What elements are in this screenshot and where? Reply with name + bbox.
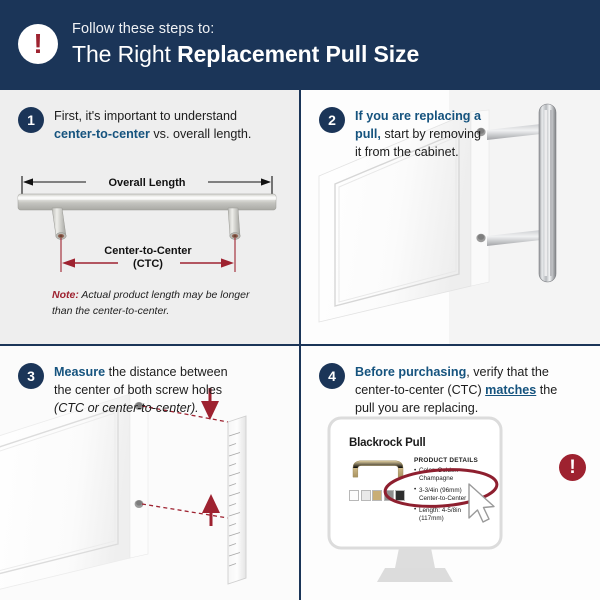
- pull-bar: [18, 194, 276, 210]
- swatch-1[interactable]: [349, 490, 359, 501]
- header-banner: ! Follow these steps to: The Right Repla…: [0, 0, 600, 88]
- note-label: Note:: [52, 289, 79, 301]
- screw-hole-bottom-inner: [478, 234, 484, 240]
- step-4-badge: 4: [319, 363, 345, 389]
- panel-step-4: Blackrock Pull: [301, 346, 600, 600]
- exclamation-glyph-small: !: [569, 458, 575, 477]
- step-1-badge: 1: [18, 107, 44, 133]
- step-2-badge: 2: [319, 107, 345, 133]
- panel-step-1: 1 First, it's important to understand ce…: [0, 90, 299, 344]
- step-2-text: If you are replacing a pull, start by re…: [355, 108, 485, 162]
- overall-arrow-left: [23, 178, 33, 185]
- step-3-text-bold: Measure: [54, 365, 105, 379]
- product-detail-length: Length: 4-5/8in (117mm): [414, 507, 483, 524]
- page-title: The Right Replacement Pull Size: [72, 41, 419, 67]
- screw-hole-bottom-3-inner: [136, 500, 142, 505]
- ctc-arrow-right: [221, 258, 234, 267]
- product-detail-color: Color: Golden Champagne: [414, 467, 483, 484]
- exclamation-glyph: !: [33, 30, 42, 58]
- product-details-heading: PRODUCT DETAILS: [414, 457, 483, 464]
- step-1-text-bold: center-to-center: [54, 127, 150, 141]
- panel-step-2: 2 If you are replacing a pull, start by …: [301, 90, 600, 344]
- ctc-label-line1: Center-to-Center: [104, 245, 192, 257]
- step-4-header: 4 Before purchasing, verify that the cen…: [319, 364, 588, 418]
- note-text: Note: Actual product length may be longe…: [52, 288, 262, 320]
- step-3-text: Measure the distance between the center …: [54, 364, 234, 418]
- header-text-group: Follow these steps to: The Right Replace…: [72, 21, 419, 68]
- step-1-header: 1 First, it's important to understand ce…: [18, 108, 287, 144]
- step-4-text-bold: Before purchasing: [355, 365, 466, 379]
- ctc-label-line2: (CTC): [133, 258, 163, 270]
- monitor-stand-base: [377, 568, 453, 582]
- swatch-4[interactable]: [384, 490, 394, 501]
- overall-length-label: Overall Length: [108, 177, 185, 189]
- steps-grid: 1 First, it's important to understand ce…: [0, 88, 600, 600]
- product-image-column: [349, 452, 411, 527]
- swatch-2[interactable]: [361, 490, 371, 501]
- alert-exclamation-icon: !: [18, 24, 58, 64]
- infographic-page: ! Follow these steps to: The Right Repla…: [0, 0, 600, 600]
- step-4-text: Before purchasing, verify that the cente…: [355, 364, 570, 418]
- note-body: Actual product length may be longer than…: [52, 289, 249, 317]
- swatch-3[interactable]: [372, 490, 382, 501]
- step-3-text-italic: (CTC or center-to-center).: [54, 401, 199, 415]
- step-1-text-b: vs. overall length.: [150, 127, 252, 141]
- pull-bar-highlight: [18, 197, 276, 200]
- step-2-header: 2 If you are replacing a pull, start by …: [319, 108, 588, 162]
- title-plain: The Right: [72, 41, 177, 67]
- header-kicker: Follow these steps to:: [72, 21, 419, 38]
- step-1-text: First, it's important to understand cent…: [54, 108, 274, 144]
- ruler: [228, 416, 246, 584]
- product-card-body: PRODUCT DETAILS Color: Golden Champagne …: [349, 452, 483, 527]
- step-3-badge: 3: [18, 363, 44, 389]
- product-detail-card[interactable]: Blackrock Pull: [339, 428, 491, 538]
- product-detail-ctc: 3-3/4in (96mm) Center-to-Center: [414, 487, 483, 504]
- panel-step-3: 3 Measure the distance between the cente…: [0, 346, 299, 600]
- monitor-stand-neck: [395, 548, 435, 568]
- product-title: Blackrock Pull: [349, 437, 483, 449]
- step-1-text-a: First, it's important to understand: [54, 109, 237, 123]
- swatch-5[interactable]: [395, 490, 405, 501]
- overall-arrow-right: [261, 178, 271, 185]
- pull-post-left: [52, 208, 66, 239]
- title-bold: Replacement Pull Size: [177, 41, 419, 67]
- step-4-text-underline[interactable]: matches: [485, 383, 536, 397]
- product-pull-image: [349, 456, 407, 481]
- color-swatch-list[interactable]: [349, 490, 411, 501]
- alert-exclamation-icon-small: !: [559, 454, 586, 481]
- pull-post-right: [228, 208, 240, 239]
- product-details-column: PRODUCT DETAILS Color: Golden Champagne …: [411, 452, 483, 527]
- ctc-arrow-left: [62, 258, 75, 267]
- bar-pull-dimension-diagram: Overall Length: [0, 168, 299, 278]
- step-3-header: 3 Measure the distance between the cente…: [18, 364, 287, 418]
